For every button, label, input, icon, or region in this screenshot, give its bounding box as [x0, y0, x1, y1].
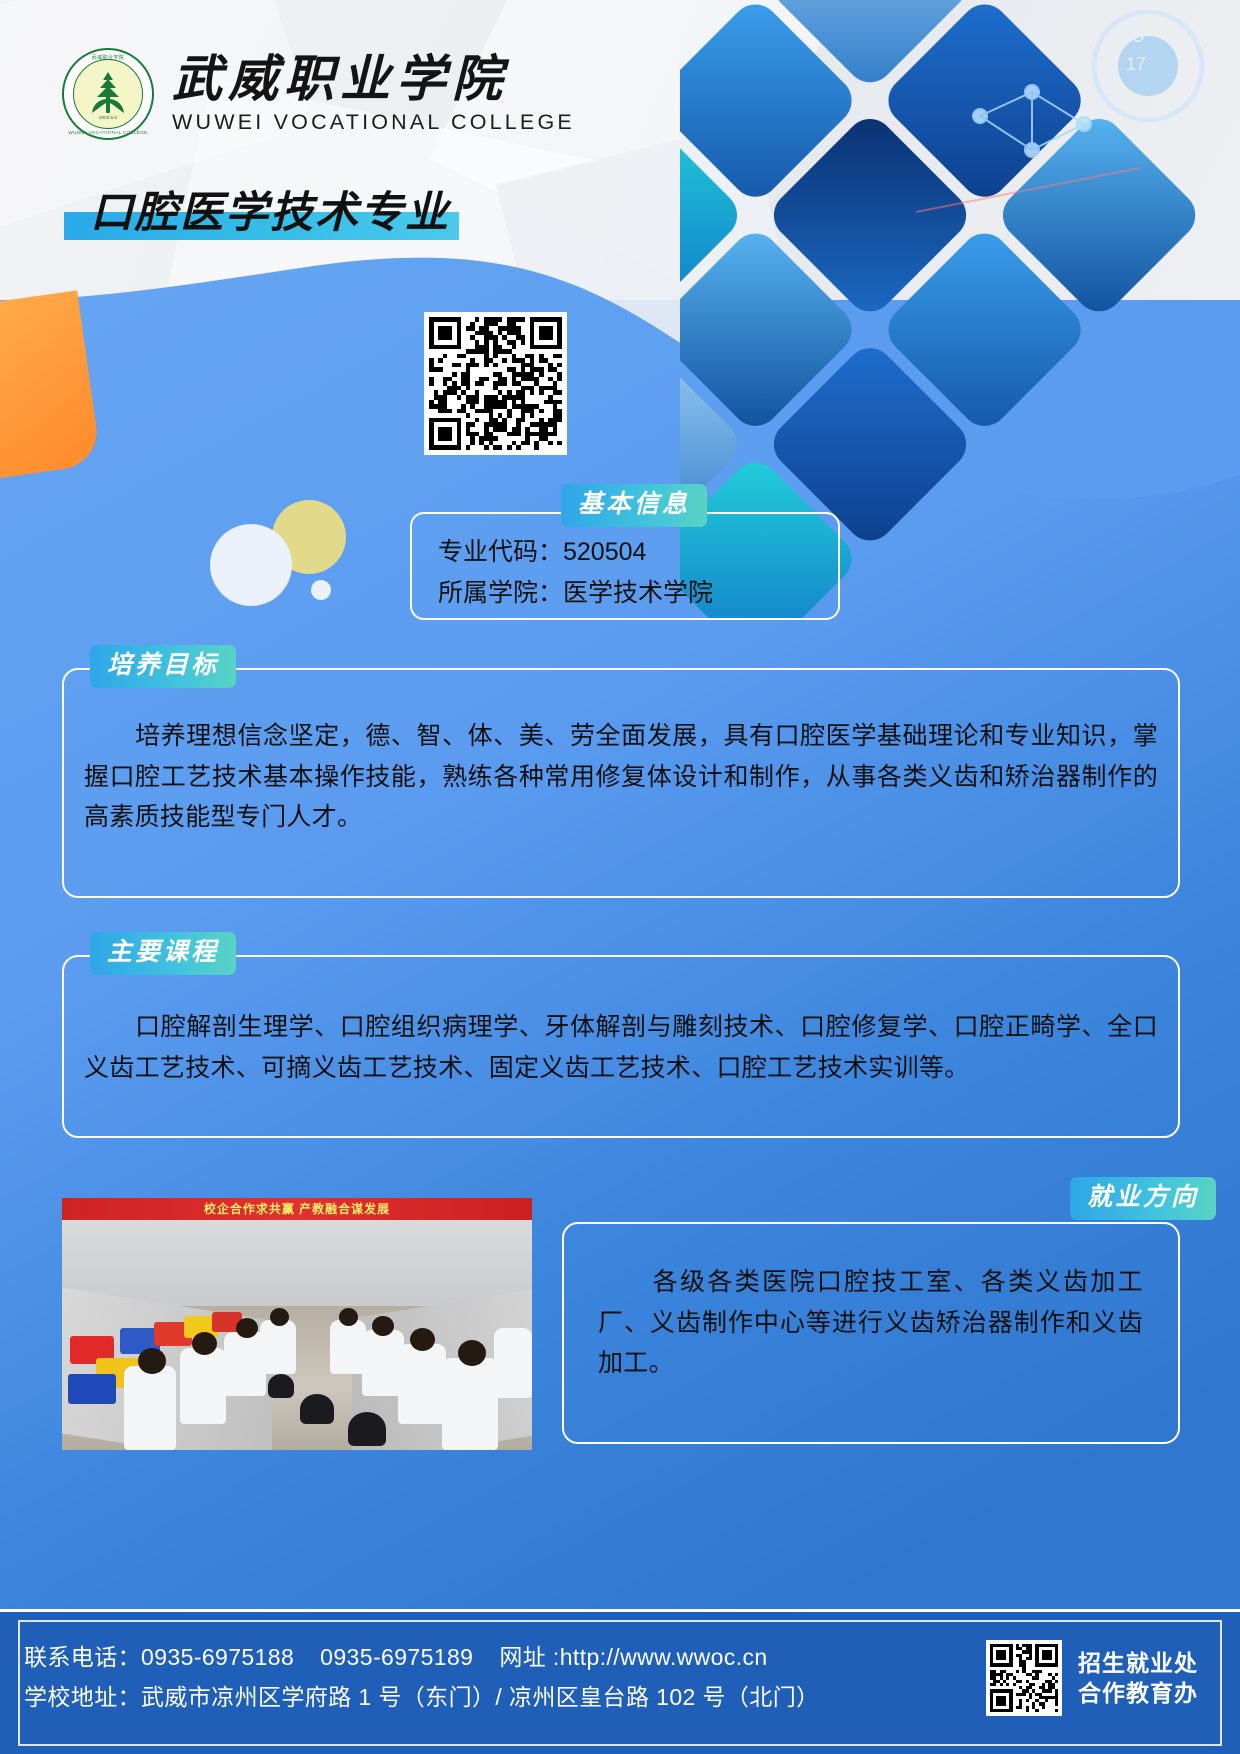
goal-body-text: 培养理想信念坚定，德、智、体、美、劳全面发展，具有口腔医学基础理论和专业知识，掌… [84, 716, 1158, 838]
footer-bar: 联系电话：0935-69751880935-6975189网址 :http://… [0, 1609, 1240, 1754]
photo-student-head [372, 1316, 394, 1336]
courses-card: 口腔解剖生理学、口腔组织病理学、牙体解剖与雕刻技术、口腔修复学、口腔正畸学、全口… [62, 955, 1180, 1138]
college-name-cn: 武威职业学院 [172, 53, 575, 106]
photo-chair [348, 1412, 386, 1446]
major-title-block: 口腔医学技术专业 [64, 178, 470, 240]
photo-student-head [270, 1308, 289, 1326]
photo-student [442, 1358, 498, 1450]
photo-student-head [339, 1308, 358, 1326]
college-line: 所属学院：医学技术学院 [438, 573, 713, 614]
employment-card: 各级各类医院口腔技工室、各类义齿加工厂、义齿制作中心等进行义齿矫治器制作和义齿加… [562, 1222, 1180, 1444]
footer-dept-block: 招生就业处 合作教育办 [986, 1640, 1198, 1716]
photo-student [180, 1348, 226, 1424]
microscope-photo-mosaic: 25 17 [680, 0, 1240, 600]
college-crest-icon: 武威职业学院 2003.6.6 WUWEI VOCATIONAL COLLEGE [62, 48, 154, 140]
college-logo: 武威职业学院 2003.6.6 WUWEI VOCATIONAL COLLEGE… [62, 48, 575, 140]
footer-phone-line: 联系电话：0935-69751880935-6975189网址 :http://… [24, 1638, 820, 1678]
svg-text:17: 17 [1126, 54, 1146, 74]
section-tag-courses: 主要课程 [90, 932, 236, 975]
qr-code-icon [990, 1644, 1058, 1712]
courses-body-text: 口腔解剖生理学、口腔组织病理学、牙体解剖与雕刻技术、口腔修复学、口腔正畸学、全口… [84, 1007, 1158, 1088]
photo-student [362, 1330, 404, 1396]
photo-student [260, 1320, 296, 1374]
dept-line-1: 招生就业处 [1078, 1648, 1198, 1678]
photo-student-head [458, 1340, 486, 1366]
dept-line-2: 合作教育办 [1078, 1678, 1198, 1708]
qr-code-main[interactable] [424, 312, 567, 455]
svg-text:25: 25 [1120, 22, 1144, 47]
photo-chair [300, 1394, 334, 1424]
college-name-en: WUWEI VOCATIONAL COLLEGE [172, 110, 575, 135]
section-tag-employment: 就业方向 [1070, 1177, 1216, 1220]
website-url[interactable]: http://www.wwoc.cn [560, 1644, 768, 1670]
photo-banner-text: 校企合作求共赢 产教融合谋发展 [62, 1198, 532, 1220]
section-tag-basic-info: 基本信息 [561, 484, 707, 527]
basic-info-lines: 专业代码：520504 所属学院：医学技术学院 [438, 532, 713, 613]
major-code-line: 专业代码：520504 [438, 532, 713, 573]
crest-bottom-text: WUWEI VOCATIONAL COLLEGE [62, 130, 154, 135]
photo-student-head [138, 1348, 166, 1374]
address-value: 武威市凉州区学府路 1 号（东门）/ 凉州区皇台路 102 号（北门） [141, 1684, 820, 1710]
decorative-circle-white [210, 524, 292, 606]
address-label: 学校地址： [24, 1684, 141, 1710]
poster-root: 25 17 武威职业学院 [0, 0, 1240, 1754]
photo-student-head [192, 1332, 217, 1355]
department-labels: 招生就业处 合作教育办 [1078, 1648, 1198, 1709]
photo-student [494, 1328, 532, 1398]
page-title: 口腔医学技术专业 [64, 178, 470, 240]
section-tag-goal: 培养目标 [90, 645, 236, 688]
goal-card: 培养理想信念坚定，德、智、体、美、劳全面发展，具有口腔医学基础理论和专业知识，掌… [62, 668, 1180, 898]
phone-number-1: 0935-6975188 [141, 1644, 294, 1670]
photo-crate [68, 1374, 116, 1404]
photo-wall [62, 1220, 532, 1306]
qr-code-icon [429, 317, 562, 450]
qr-code-footer[interactable] [986, 1640, 1062, 1716]
photo-chair [268, 1374, 294, 1398]
photo-student [330, 1320, 366, 1374]
photo-student [124, 1366, 176, 1450]
crest-top-text: 武威职业学院 [62, 54, 154, 61]
website-label: 网址 : [499, 1644, 559, 1670]
footer-contact-block: 联系电话：0935-69751880935-6975189网址 :http://… [24, 1638, 820, 1717]
employment-body-text: 各级各类医院口腔技工室、各类义齿加工厂、义齿制作中心等进行义齿矫治器制作和义齿加… [598, 1262, 1143, 1384]
photo-student-head [236, 1318, 258, 1338]
photo-student [398, 1344, 446, 1424]
phone-label: 联系电话： [24, 1644, 141, 1670]
phone-number-2: 0935-6975189 [320, 1644, 473, 1670]
training-room-photo: 校企合作求共赢 产教融合谋发展 [62, 1198, 532, 1450]
basic-info-card: 专业代码：520504 所属学院：医学技术学院 [410, 512, 840, 620]
footer-address-line: 学校地址：武威市凉州区学府路 1 号（东门）/ 凉州区皇台路 102 号（北门） [24, 1678, 820, 1718]
decorative-circle-dot [311, 580, 331, 600]
photo-student-head [410, 1328, 435, 1351]
